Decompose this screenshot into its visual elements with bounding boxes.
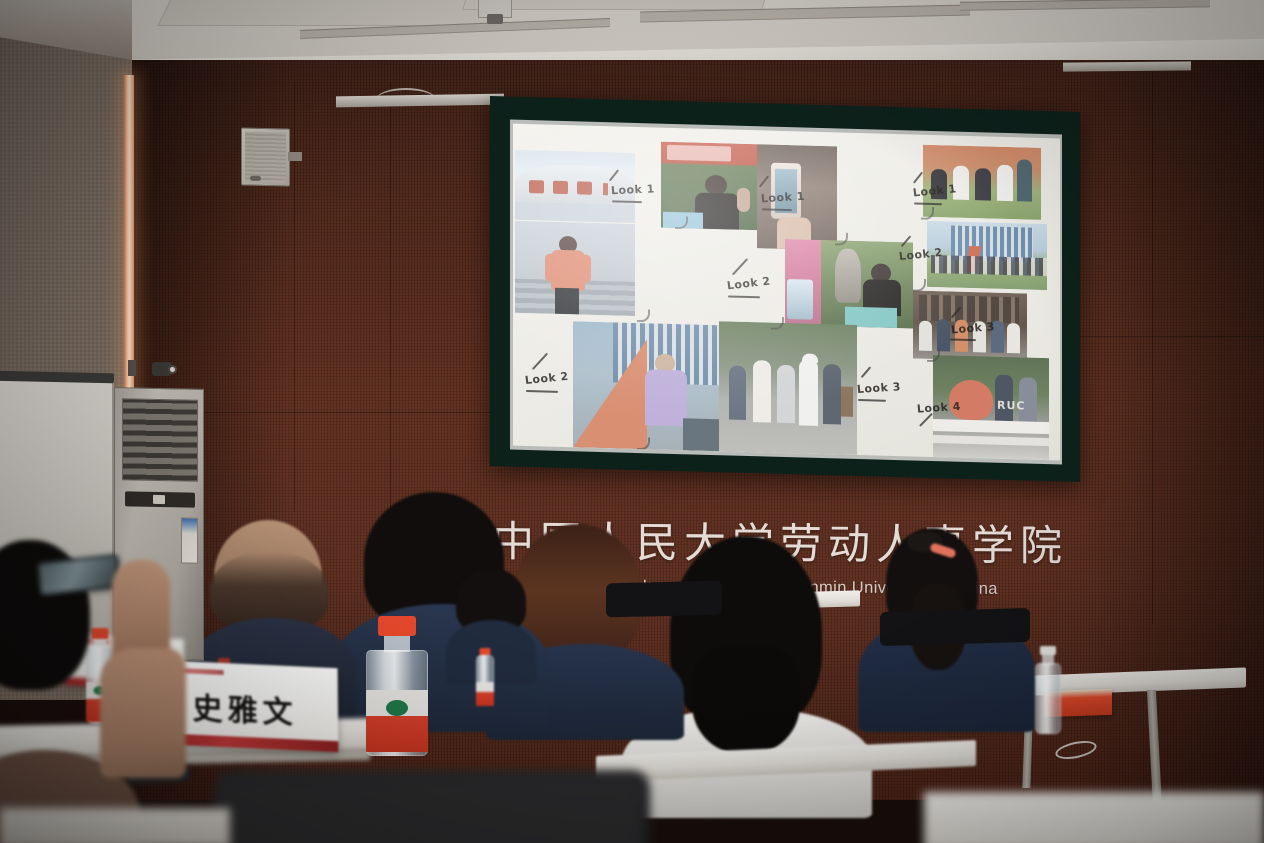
- screen-surface: RUC Look 1 Look 1 Look 1 Look 2 Look 2 L…: [510, 120, 1062, 465]
- slide-photo-group-grass: [923, 145, 1041, 220]
- slide-label-look: Look 4: [916, 400, 961, 416]
- label-tick: [728, 295, 760, 298]
- slide-photo-dorm-crowd: [927, 221, 1047, 290]
- presentation-slide: RUC Look 1 Look 1 Look 1 Look 2 Look 2 L…: [513, 124, 1060, 461]
- connector-hook: [921, 207, 934, 220]
- ceiling-vent: [960, 0, 1210, 11]
- slide-photo-street-crowd: [719, 321, 857, 455]
- wall-panel-seam: [294, 82, 295, 512]
- chair-mesh: [223, 779, 641, 843]
- water-bottle[interactable]: [366, 616, 428, 756]
- wall-track-rail: [1063, 61, 1191, 71]
- ceiling-tile: [157, 0, 512, 26]
- air-conditioner-grill: [122, 398, 198, 481]
- phone-screen: [40, 557, 119, 593]
- label-tick: [858, 399, 886, 402]
- label-tick: [526, 390, 558, 393]
- slide-label-look: Look 3: [856, 380, 901, 396]
- foreground-desk: [924, 792, 1264, 843]
- lecture-hall-scene: RUC Look 1 Look 1 Look 1 Look 2 Look 2 L…: [0, 0, 1264, 843]
- camera-lens-icon: [168, 365, 177, 374]
- water-bottle[interactable]: [476, 648, 494, 706]
- tripod-stand: [128, 360, 136, 376]
- slide-label-look: Look 1: [760, 190, 805, 206]
- projection-screen[interactable]: RUC Look 1 Look 1 Look 1 Look 2 Look 2 L…: [490, 96, 1080, 482]
- label-tick: [732, 258, 748, 275]
- slide-label-look: Look 1: [611, 182, 656, 197]
- label-tick: [861, 366, 872, 378]
- slide-label-look: Look 2: [726, 275, 771, 293]
- speaker-mount-arm: [288, 152, 302, 161]
- slide-label-look: Look 2: [524, 370, 569, 387]
- foreground-desk: [0, 808, 230, 843]
- slide-photo-purple-shirt: [573, 321, 719, 451]
- label-tick: [913, 172, 923, 184]
- chair-back: [606, 581, 722, 618]
- slide-photo-stone: [785, 239, 913, 328]
- foreground-chair[interactable]: [214, 770, 650, 843]
- connector-hook: [637, 309, 650, 322]
- energy-label-sticker: [181, 517, 198, 563]
- slide-photo-orange-shirt: [515, 221, 635, 316]
- label-tick: [532, 353, 548, 370]
- forearm: [100, 648, 186, 778]
- wall-panel-seam: [390, 82, 391, 522]
- wall-speaker: [241, 127, 290, 186]
- speaker-logo: [250, 176, 261, 181]
- label-tick: [914, 202, 942, 205]
- water-bottle[interactable]: [1035, 646, 1061, 734]
- slide-photo-ruc-text: RUC: [997, 399, 1025, 413]
- ceiling-projector: [487, 14, 503, 24]
- air-conditioner-display[interactable]: [125, 491, 195, 507]
- chair-back: [880, 608, 1030, 646]
